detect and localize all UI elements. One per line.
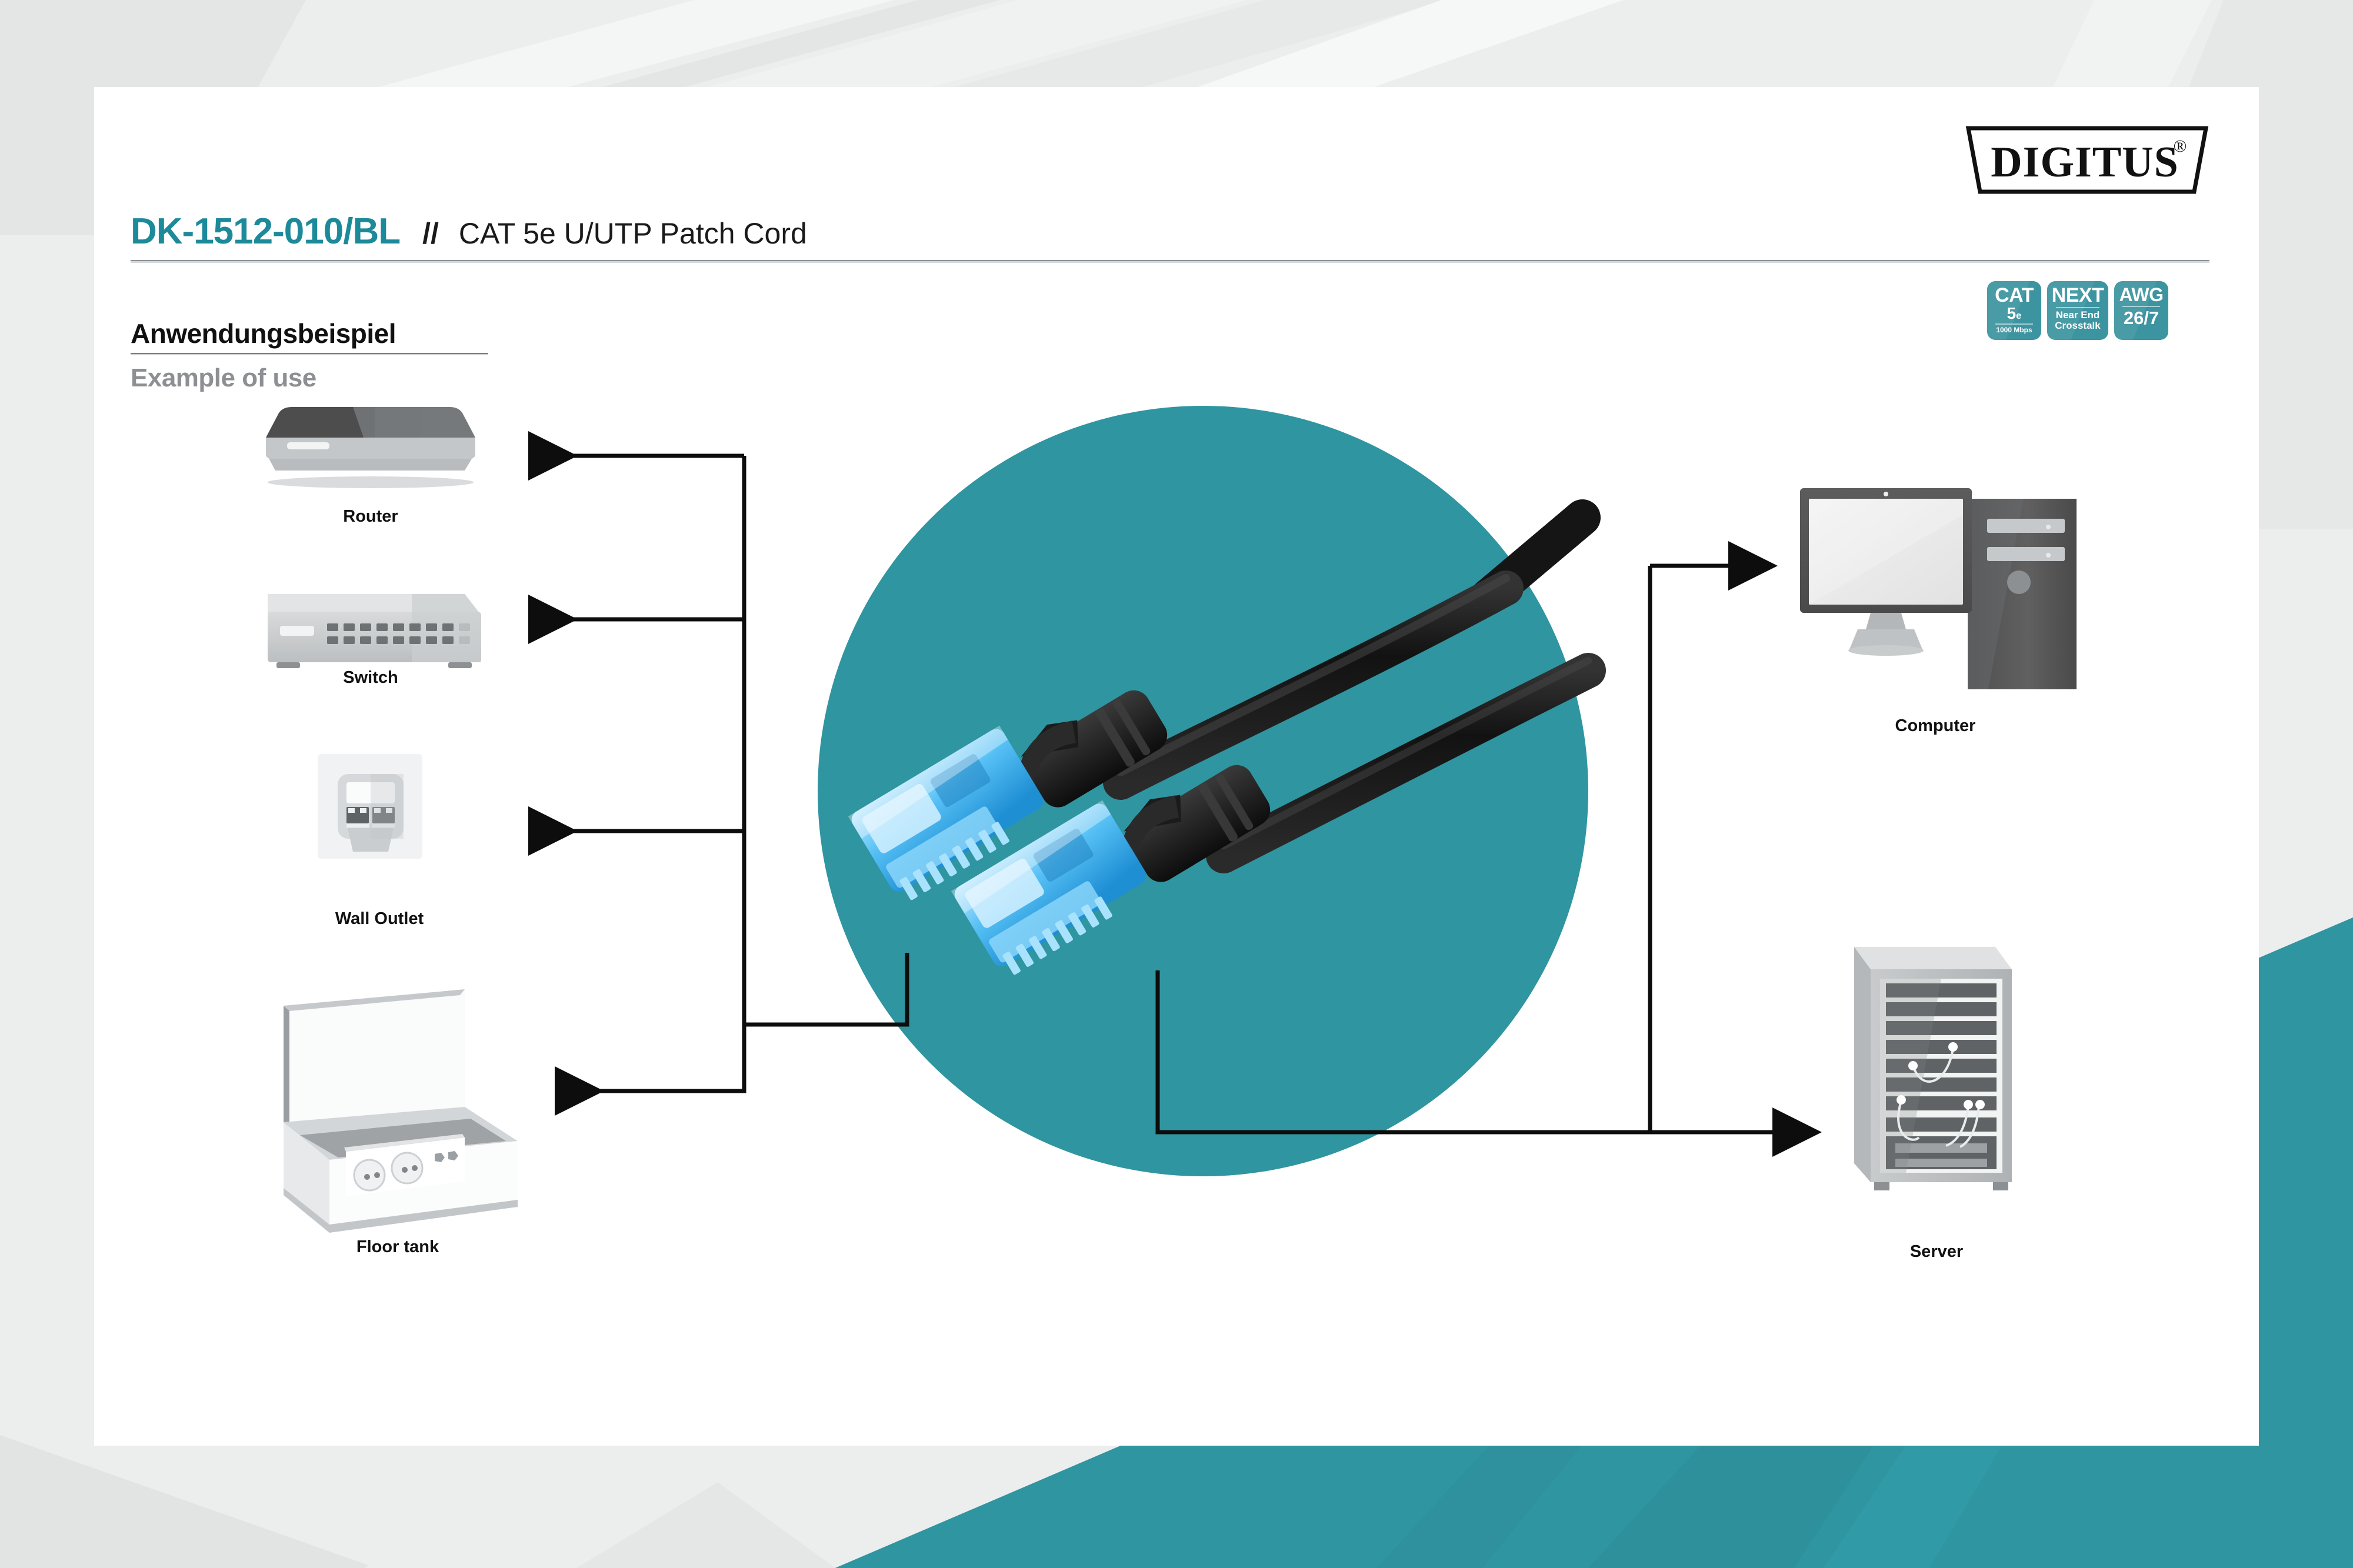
next-badge: NEXT Near End Crosstalk — [2047, 281, 2108, 340]
awg-badge-main: AWG — [2119, 286, 2164, 304]
title-separator: // — [422, 216, 439, 251]
cat-badge-sub: 1000 Mbps — [1996, 326, 2032, 333]
label-router: Router — [343, 507, 398, 526]
awg-badge-sub: 26/7 — [2124, 309, 2159, 328]
label-floor-tank: Floor tank — [356, 1237, 439, 1257]
cat-badge: CAT 5e 1000 Mbps — [1987, 281, 2041, 340]
heading-german: Anwendungsbeispiel — [131, 318, 488, 349]
label-computer: Computer — [1895, 716, 1976, 736]
cat-badge-main: CAT — [1995, 286, 2034, 305]
next-badge-sub2: Crosstalk — [2055, 321, 2100, 331]
digitus-logo: DIGITUS ® — [1964, 125, 2211, 195]
label-wall-outlet: Wall Outlet — [335, 909, 424, 929]
heading-divider — [131, 353, 488, 355]
registered-mark: ® — [2174, 136, 2187, 156]
label-server: Server — [1910, 1242, 1963, 1262]
logo-wordmark: DIGITUS — [1991, 138, 2179, 186]
product-sku: DK-1512-010/BL — [131, 211, 400, 252]
awg-badge: AWG 26/7 — [2114, 281, 2168, 340]
awg-badge-divider — [2122, 306, 2160, 307]
product-title-row: DK-1512-010/BL // CAT 5e U/UTP Patch Cor… — [131, 211, 2211, 252]
spec-badges: CAT 5e 1000 Mbps NEXT Near End Crosstalk… — [1987, 281, 2168, 340]
heading-english: Example of use — [131, 363, 488, 393]
section-heading: Anwendungsbeispiel Example of use — [131, 318, 488, 393]
title-divider — [131, 260, 2209, 263]
cat-badge-value: 5e — [2007, 305, 2021, 322]
label-switch: Switch — [343, 668, 398, 688]
product-name: CAT 5e U/UTP Patch Cord — [459, 216, 807, 251]
next-badge-sub1: Near End — [2056, 310, 2100, 320]
next-badge-divider — [2056, 307, 2099, 308]
next-badge-main: NEXT — [2052, 286, 2104, 305]
cat-badge-divider — [1995, 323, 2033, 325]
